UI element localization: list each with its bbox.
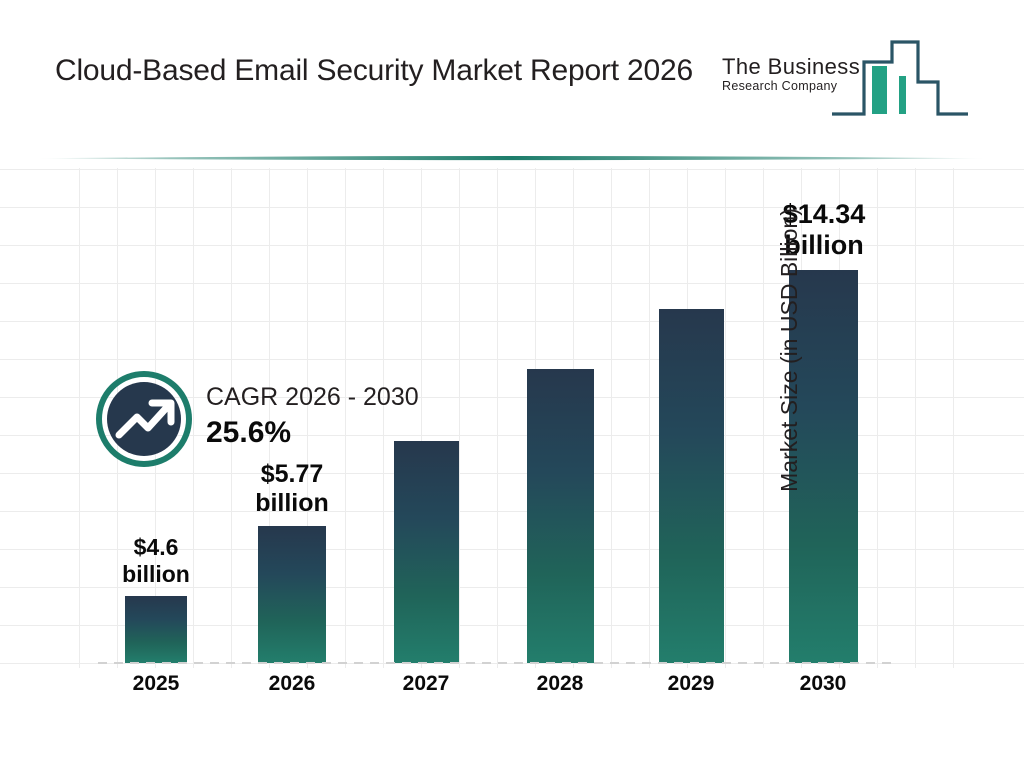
cagr-badge: CAGR 2026 - 2030 25.6% <box>96 371 516 471</box>
x-tick-2029: 2029 <box>631 672 751 696</box>
y-axis-title: Market Size (in USD Billion) <box>776 180 803 520</box>
bar-chart-outline-logo-mark <box>830 36 970 122</box>
cagr-value-label: 25.6% <box>206 414 506 452</box>
trending-up-icon <box>96 371 192 467</box>
cagr-period-label: CAGR 2026 - 2030 <box>206 381 506 414</box>
x-tick-2027: 2027 <box>366 672 486 696</box>
chart-page: Cloud-Based Email Security Market Report… <box>0 0 1024 768</box>
bar-value-label-2025: $4.6 billion <box>98 534 214 588</box>
cagr-text-block: CAGR 2026 - 2030 25.6% <box>206 381 506 452</box>
axis-baseline <box>98 662 898 664</box>
bar-2026[interactable] <box>258 526 326 663</box>
bar-2027[interactable] <box>394 441 459 663</box>
company-logo: The Business Research Company <box>722 36 970 122</box>
title-divider <box>36 152 988 164</box>
x-axis: 2025 2026 2027 2028 2029 2030 <box>0 672 1024 718</box>
header: Cloud-Based Email Security Market Report… <box>0 0 1024 150</box>
x-tick-2026: 2026 <box>230 672 354 696</box>
bar-value-label-2030: $14.34 billion <box>752 199 896 262</box>
x-tick-2030: 2030 <box>758 672 888 696</box>
plot-area: $4.6 billion $5.77 billion $14.34 billio… <box>0 168 1024 668</box>
x-tick-2028: 2028 <box>499 672 621 696</box>
x-tick-2025: 2025 <box>98 672 214 696</box>
page-title: Cloud-Based Email Security Market Report… <box>55 48 695 94</box>
bar-2029[interactable] <box>659 309 724 663</box>
bar-2025[interactable] <box>125 596 187 663</box>
bar-2028[interactable] <box>527 369 594 663</box>
